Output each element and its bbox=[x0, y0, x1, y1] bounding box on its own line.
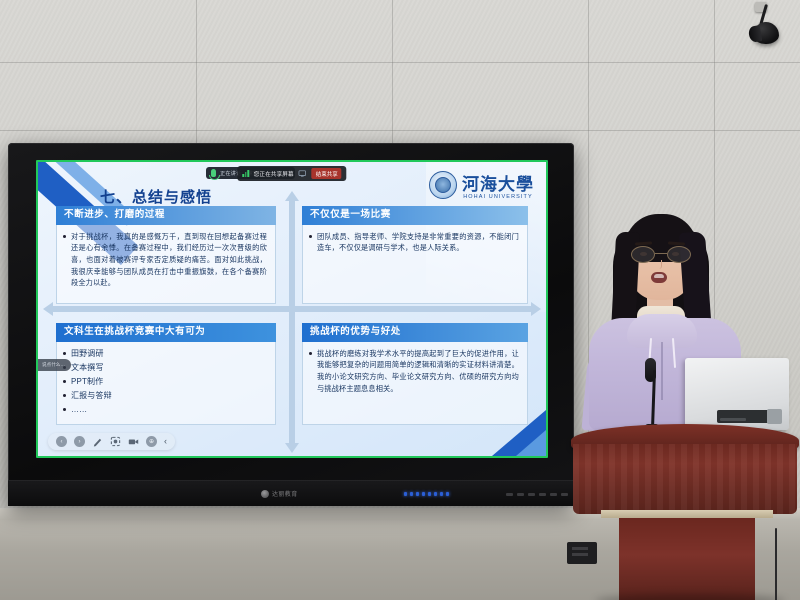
bullet-dot-icon bbox=[63, 235, 66, 238]
collapse-toolbar-button[interactable]: ‹ bbox=[164, 437, 167, 446]
bullet-text: 对于挑战杯，我真的是感慨万千，直到现在回想起备赛过程还是心有余悸。在备赛过程中，… bbox=[71, 231, 267, 289]
bullet-dot-icon bbox=[309, 352, 312, 355]
bullet-dot-icon bbox=[63, 408, 66, 411]
bullet-text: 团队成员、指导老师、学院支持是非常重要的资源，不能闭门造车，不仅仅是调研与学术，… bbox=[317, 231, 519, 254]
bullet-text: 汇报与答辩 bbox=[71, 390, 112, 402]
wall-tile-seam bbox=[0, 130, 800, 131]
bullet-dot-icon bbox=[63, 380, 66, 383]
bullet-text: …… bbox=[71, 404, 87, 416]
presenter-mouth bbox=[651, 272, 667, 283]
screen-share-banner[interactable]: 您正在共享屏幕 结束共享 bbox=[237, 166, 346, 181]
screen-share-icon bbox=[299, 170, 307, 177]
podium-front-panel bbox=[573, 444, 797, 514]
bullet-item: 团队成员、指导老师、学院支持是非常重要的资源，不能闭门造车，不仅仅是调研与学术，… bbox=[309, 231, 519, 254]
laser-target-icon[interactable] bbox=[110, 436, 121, 447]
desktop-monitor-icon bbox=[685, 358, 789, 430]
slide-corner-triangle-light bbox=[516, 430, 546, 456]
display-control-buttons[interactable] bbox=[506, 493, 568, 496]
glasses-lens-right bbox=[667, 246, 691, 263]
bullet-text: 田野调研 bbox=[71, 348, 104, 360]
university-seal-icon bbox=[429, 171, 457, 199]
monitor-vent bbox=[717, 410, 769, 423]
quadrant-card-bottom-right: 挑战杯的优势与好处 挑战杯的磨练对我学术水平的提高起到了巨大的促进作用，让我能够… bbox=[302, 323, 528, 425]
quadrant-body: 对于挑战杯，我真的是感慨万千，直到现在回想起备赛过程还是心有余悸。在备赛过程中，… bbox=[56, 225, 276, 304]
presenter-hoodie-seam bbox=[661, 342, 663, 400]
bullet-dot-icon bbox=[309, 235, 312, 238]
presentation-slide: 七、总结与感悟 河海大學 HOHAI UNIVERSITY 不断进步、打磨的过程 bbox=[38, 162, 546, 456]
vertical-axis-arrow bbox=[289, 200, 295, 444]
bullet-item: 对于挑战杯，我真的是感慨万千，直到现在回想起备赛过程还是心有余悸。在备赛过程中，… bbox=[63, 231, 267, 289]
record-dot-icon bbox=[38, 361, 39, 369]
podium-trim bbox=[601, 510, 773, 518]
smart-display-panel: 七、总结与感悟 河海大學 HOHAI UNIVERSITY 不断进步、打磨的过程 bbox=[8, 143, 574, 506]
share-status-text: 您正在共享屏幕 bbox=[254, 170, 294, 178]
display-brand-label: 达丽教育 bbox=[272, 489, 298, 498]
monitor-port bbox=[767, 409, 782, 424]
university-name-en: HOHAI UNIVERSITY bbox=[462, 194, 534, 200]
presenter-nose bbox=[658, 260, 662, 269]
brand-glyph-icon bbox=[261, 490, 269, 498]
quadrant-heading: 不断进步、打磨的过程 bbox=[56, 206, 276, 225]
quadrant-card-top-left: 不断进步、打磨的过程 对于挑战杯，我真的是感慨万千，直到现在回想起备赛过程还是心… bbox=[56, 206, 276, 304]
quadrant-body: 挑战杯的磨练对我学术水平的提高起到了巨大的促进作用，让我能够把复杂的问题用简单的… bbox=[302, 342, 528, 425]
bullet-item: 挑战杯的磨练对我学术水平的提高起到了巨大的促进作用，让我能够把复杂的问题用简单的… bbox=[309, 348, 519, 395]
bullet-text: 挑战杯的磨练对我学术水平的提高起到了巨大的促进作用，让我能够把复杂的问题用简单的… bbox=[317, 348, 519, 395]
pen-icon[interactable] bbox=[92, 436, 103, 447]
lecture-room-scene: 七、总结与感悟 河海大學 HOHAI UNIVERSITY 不断进步、打磨的过程 bbox=[0, 0, 800, 600]
podium-column bbox=[619, 518, 755, 600]
quadrant-heading: 不仅仅是一场比赛 bbox=[302, 206, 528, 225]
quadrant-body: 团队成员、指导老师、学院支持是非常重要的资源，不能闭门造车，不仅仅是调研与学术，… bbox=[302, 225, 528, 304]
bullet-item: 文本撰写 bbox=[63, 362, 267, 374]
bullet-item: 汇报与答辩 bbox=[63, 390, 267, 402]
video-camera-icon[interactable] bbox=[128, 436, 139, 447]
display-bezel: 达丽教育 bbox=[8, 480, 574, 506]
previous-slide-button[interactable]: ‹ bbox=[56, 436, 67, 447]
bullet-item: 田野调研 bbox=[63, 348, 267, 360]
quadrant-card-top-right: 不仅仅是一场比赛 团队成员、指导老师、学院支持是非常重要的资源，不能闭门造车，不… bbox=[302, 206, 528, 304]
wall-tile-seam bbox=[0, 62, 800, 63]
bullet-dot-icon bbox=[63, 352, 66, 355]
university-logo: 河海大學 HOHAI UNIVERSITY bbox=[429, 170, 534, 200]
next-slide-button[interactable]: › bbox=[74, 436, 85, 447]
university-name-cn: 河海大學 bbox=[462, 170, 534, 195]
more-options-button[interactable]: ⊕ bbox=[146, 436, 157, 447]
comment-pill-label: 说点什么… bbox=[42, 362, 65, 368]
glasses-lens-left bbox=[631, 246, 655, 263]
shared-screen[interactable]: 七、总结与感悟 河海大學 HOHAI UNIVERSITY 不断进步、打磨的过程 bbox=[38, 162, 546, 456]
presentation-toolbar[interactable]: ‹ › ⊕ ‹ bbox=[48, 433, 175, 450]
signal-bars-icon bbox=[242, 170, 249, 177]
glasses-bridge bbox=[655, 253, 667, 254]
display-led-indicators bbox=[404, 492, 449, 496]
quadrant-card-bottom-left: 文科生在挑战杯竞赛中大有可为 田野调研 文本撰写 PPT制作 bbox=[56, 323, 276, 425]
bullet-text: 文本撰写 bbox=[71, 362, 104, 374]
microphone-icon bbox=[211, 169, 216, 177]
bullet-item: …… bbox=[63, 404, 267, 416]
podium-cable bbox=[775, 528, 777, 600]
bullet-dot-icon bbox=[63, 394, 66, 397]
bullet-text: PPT制作 bbox=[71, 376, 103, 388]
comment-pill[interactable]: 说点什么… bbox=[38, 359, 71, 371]
presenter-stage bbox=[575, 210, 800, 600]
bullet-item: PPT制作 bbox=[63, 376, 267, 388]
quadrant-heading: 文科生在挑战杯竞赛中大有可为 bbox=[56, 323, 276, 342]
floor-power-box bbox=[567, 542, 597, 564]
page-title: 七、总结与感悟 bbox=[100, 186, 212, 207]
stop-sharing-button[interactable]: 结束共享 bbox=[312, 168, 342, 179]
quadrant-heading: 挑战杯的优势与好处 bbox=[302, 323, 528, 342]
quadrant-body: 田野调研 文本撰写 PPT制作 汇报与答辩 bbox=[56, 342, 276, 425]
display-brand-logo: 达丽教育 bbox=[261, 489, 298, 498]
horizontal-axis-arrow bbox=[52, 306, 532, 312]
